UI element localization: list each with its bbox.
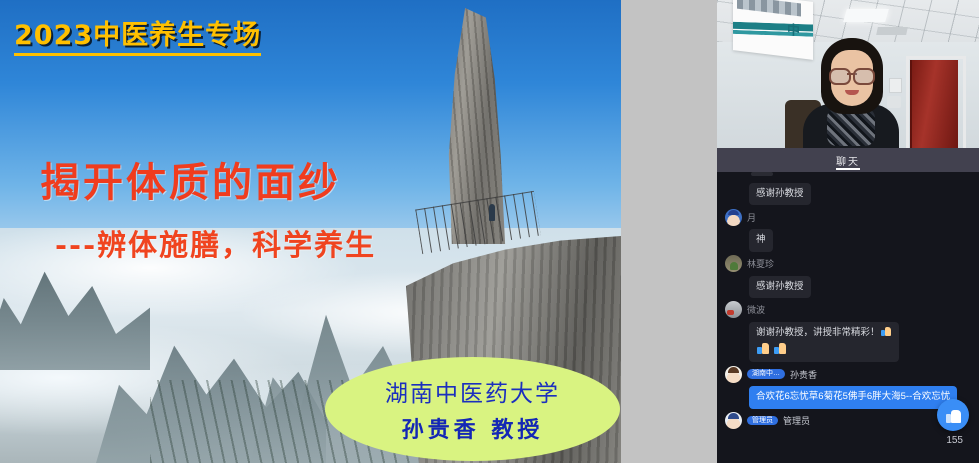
slide-heading: 揭开体质的面纱 (40, 150, 341, 208)
thumbs-up-icon (946, 408, 961, 423)
presenter-name: 孙贵香 教授 (402, 412, 544, 444)
presentation-slide: 2023中医养生专场 揭开体质的面纱 ---辨体施膳，科学养生 湖南中医药大学 … (0, 0, 621, 463)
wall-banner-wave-2 (733, 30, 813, 59)
right-panel: 中 聊天 (717, 0, 979, 463)
chat-bubble-text: 谢谢孙教授，讲授非常精彩！ (756, 327, 880, 338)
ceiling-light (843, 9, 889, 22)
chat-username: 孙贵香 (790, 368, 817, 381)
chat-message-row: 月 神 (717, 205, 979, 251)
thumbs-up-icon (757, 342, 769, 354)
screen-root: 2023中医养生专场 揭开体质的面纱 ---辨体施膳，科学养生 湖南中医药大学 … (0, 0, 979, 463)
avatar (725, 412, 742, 429)
avatar (725, 209, 742, 226)
wall-switch (889, 78, 902, 93)
like-button[interactable] (937, 399, 969, 431)
glasses-lens-right (853, 68, 875, 85)
red-door (910, 60, 958, 148)
chat-message-row: 感谢孙教授 (717, 174, 979, 205)
chat-username: 林夏珍 (747, 257, 774, 270)
thumbs-up-icon (881, 326, 891, 336)
chat-tab-header[interactable]: 聊天 (717, 148, 979, 172)
thumbs-up-icon (774, 342, 786, 354)
avatar (725, 366, 742, 383)
chat-username: 月 (747, 211, 756, 224)
chat-message-row: 微波 谢谢孙教授，讲授非常精彩！ (717, 298, 979, 363)
chat-username: 管理员 (783, 414, 810, 427)
chat-panel: 聊天 感谢孙教授 月 神 (717, 148, 979, 463)
chat-user-line: 林夏珍 (725, 255, 971, 273)
chat-user-badge: 湖南中… (747, 369, 785, 379)
chat-message-row: 林夏珍 感谢孙教授 (717, 252, 979, 298)
chat-username: 微波 (747, 303, 765, 316)
chat-bubble: 感谢孙教授 (749, 183, 811, 205)
chat-tab-underline (836, 168, 860, 170)
avatar (725, 255, 742, 272)
chat-user-badge: 管理员 (747, 416, 778, 426)
wall-banner-char: 中 (787, 19, 800, 40)
chat-message-row: 湖南中… 孙贵香 合欢花6忘忧草6菊花5佛手6胖大海5--合欢忘忧 (717, 362, 979, 408)
ceiling-vent (876, 27, 908, 35)
slide-title: 2023中医养生专场 (14, 22, 261, 56)
chat-user-line: 管理员 管理员 (725, 412, 971, 430)
wall-banner: 中 (733, 0, 813, 60)
chat-bubble: 合欢花6忘忧草6菊花5佛手6胖大海5--合欢忘忧 (749, 386, 957, 408)
chat-user-line: 湖南中… 孙贵香 (725, 365, 971, 383)
presenter-credit-oval: 湖南中医药大学 孙贵香 教授 (325, 357, 620, 461)
presenter-university: 湖南中医药大学 (385, 374, 560, 408)
presenter-video-tile[interactable]: 中 (717, 0, 979, 148)
chat-user-line: 月 (725, 208, 971, 226)
chat-user-line: 微波 (725, 301, 971, 319)
presenter-glasses (829, 68, 875, 81)
chat-bubble: 神 (749, 229, 773, 251)
wall-banner-photos (737, 0, 801, 16)
avatar (725, 301, 742, 318)
wall-device (887, 96, 901, 108)
slide-subheading: ---辨体施膳，科学养生 (55, 222, 376, 264)
glasses-lens-left (829, 68, 851, 85)
chat-bubble: 谢谢孙教授，讲授非常精彩！ (749, 322, 899, 363)
chat-bubble: 感谢孙教授 (749, 276, 811, 298)
person-silhouette (489, 204, 495, 221)
like-count: 155 (946, 435, 963, 446)
chat-emoji-row (756, 342, 892, 358)
chat-tab-label: 聊天 (836, 153, 860, 168)
